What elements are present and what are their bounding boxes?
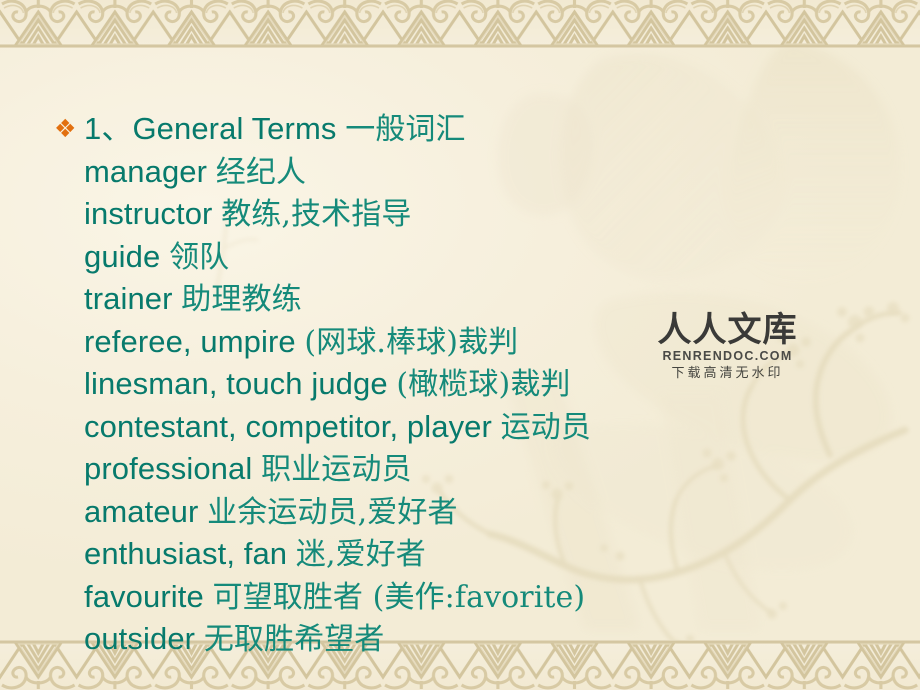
vocabulary-line: trainer 助理教练 [84, 278, 894, 321]
slide-body: ❖ 1、General Terms 一般词汇 manager 经纪人 instr… [54, 108, 894, 661]
vocabulary-line: manager 经纪人 [84, 151, 894, 194]
vocabulary-term: manager [84, 154, 216, 189]
vocabulary-translation: 职业运动员 [261, 452, 412, 487]
vocabulary-line: instructor 教练,技术指导 [84, 193, 894, 236]
vocabulary-translation: 领队 [169, 240, 229, 275]
vocabulary-translation: 教练,技术指导 [221, 197, 411, 232]
vocabulary-term: professional [84, 451, 261, 486]
vocabulary-term: amateur [84, 494, 207, 529]
vocabulary-line: contestant, competitor, player 运动员 [84, 406, 894, 449]
vocabulary-translation: (橄榄球)裁判 [396, 367, 570, 402]
vocabulary-term: linesman, touch judge [84, 366, 396, 401]
vocabulary-term: enthusiast, fan [84, 536, 296, 571]
vocabulary-translation: 迷,爱好者 [296, 537, 426, 572]
vocabulary-term: guide [84, 239, 169, 274]
vocabulary-term: instructor [84, 196, 221, 231]
vocabulary-term: 1、General Terms [84, 111, 345, 146]
vocabulary-line: enthusiast, fan 迷,爱好者 [84, 533, 894, 576]
vocabulary-term: favourite [84, 579, 213, 614]
vocabulary-translation: 运动员 [501, 410, 591, 445]
vocabulary-line: outsider 无取胜希望者 [84, 618, 894, 661]
vocabulary-term: referee, umpire [84, 324, 304, 359]
vocabulary-line: linesman, touch judge (橄榄球)裁判 [84, 363, 894, 406]
vocabulary-translation: 一般词汇 [345, 112, 465, 147]
bulleted-paragraph: ❖ 1、General Terms 一般词汇 manager 经纪人 instr… [54, 108, 894, 661]
vocabulary-line-list: 1、General Terms 一般词汇 manager 经纪人 instruc… [84, 108, 894, 661]
vocabulary-line: favourite 可望取胜者 (美作:favorite) [84, 576, 894, 619]
vocabulary-line: amateur 业余运动员,爱好者 [84, 491, 894, 534]
vocabulary-translation: 经纪人 [216, 155, 306, 190]
vocabulary-line: professional 职业运动员 [84, 448, 894, 491]
diamond-bullet-icon: ❖ [54, 108, 84, 150]
vocabulary-translation: (网球.棒球)裁判 [304, 325, 518, 360]
vocabulary-translation: 业余运动员,爱好者 [207, 495, 457, 530]
presentation-slide: ❖ 1、General Terms 一般词汇 manager 经纪人 instr… [0, 0, 920, 690]
vocabulary-line: 1、General Terms 一般词汇 [84, 108, 894, 151]
vocabulary-translation: 无取胜希望者 [204, 622, 385, 657]
vocabulary-translation: 可望取胜者 (美作:favorite) [213, 580, 586, 615]
vocabulary-line: referee, umpire (网球.棒球)裁判 [84, 321, 894, 364]
vocabulary-translation: 助理教练 [181, 282, 301, 317]
vocabulary-term: outsider [84, 621, 204, 656]
vocabulary-term: contestant, competitor, player [84, 409, 501, 444]
vocabulary-line: guide 领队 [84, 236, 894, 279]
vocabulary-term: trainer [84, 281, 181, 316]
